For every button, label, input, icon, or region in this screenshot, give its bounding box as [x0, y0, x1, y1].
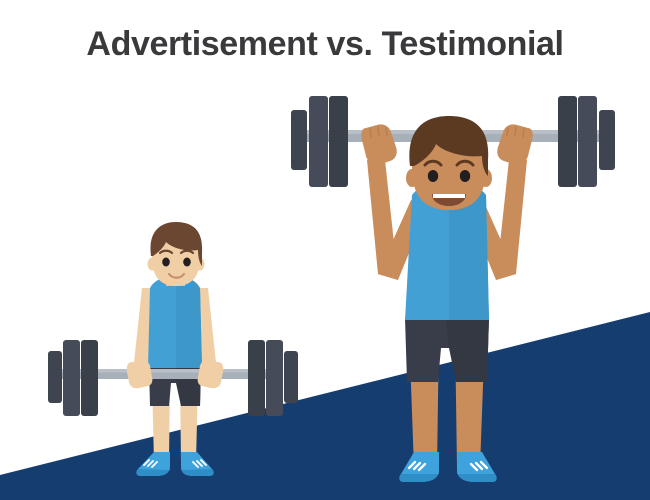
left-barbell-plate-right-mid: [266, 340, 283, 416]
large-lifter-right-eye: [460, 170, 470, 182]
left-barbell-plate-left-inner: [81, 340, 98, 416]
large-lifter-teeth: [433, 194, 465, 198]
small-lifter-left-ear: [148, 258, 157, 271]
large-lifter-left-ear: [406, 169, 418, 187]
illustration-scene: [0, 0, 650, 500]
large-lifter-left-eye: [428, 170, 438, 182]
right-barbell-plate-right-outer: [599, 110, 615, 170]
small-lifter-right-eye: [183, 258, 191, 267]
left-barbell-plate-left-outer: [48, 351, 62, 403]
left-barbell-plate-right-outer: [284, 351, 298, 403]
small-lifter-tank-top-shadow: [176, 278, 202, 368]
right-barbell-plate-left-inner: [329, 96, 348, 187]
illustration-canvas: Advertisement vs. Testimonial: [0, 0, 650, 500]
right-barbell-plate-left-outer: [291, 110, 307, 170]
small-lifter-left-eye: [162, 258, 170, 267]
left-barbell-plate-left-mid: [63, 340, 80, 416]
right-barbell-plate-right-mid: [578, 96, 597, 187]
right-barbell-plate-left-mid: [309, 96, 328, 187]
small-lifter-left-hand: [127, 361, 153, 389]
left-barbell-plate-right-inner: [248, 340, 265, 416]
small-lifter-right-hand: [198, 361, 224, 389]
right-barbell-plate-right-inner: [558, 96, 577, 187]
page-title: Advertisement vs. Testimonial: [0, 22, 650, 66]
